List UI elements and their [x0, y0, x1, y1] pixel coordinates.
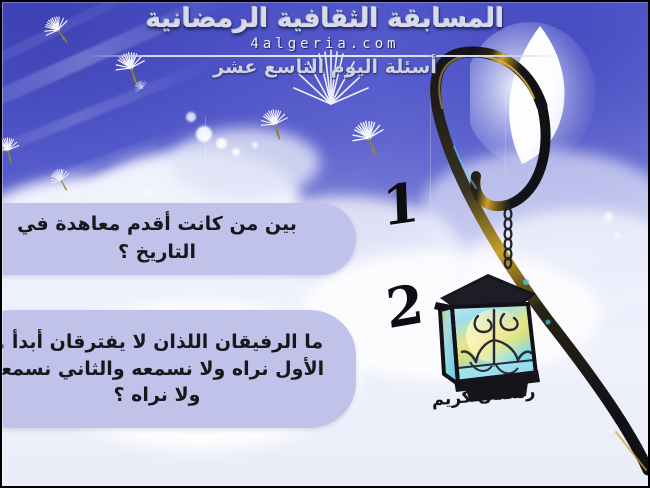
ramadan-lantern: [432, 262, 544, 402]
dandelion-seed: [47, 166, 76, 196]
lantern-chain: [505, 209, 512, 268]
dandelion-seed: [112, 49, 150, 90]
question-1-text: بين من كانت أقدم معاهدة في التاريخ ؟: [0, 211, 330, 266]
question-number-2: 2: [383, 271, 427, 341]
dandelion-seed: [141, 187, 158, 199]
dandelion-seed: [40, 12, 78, 51]
question-number-1: 1: [381, 169, 420, 239]
dandelion-seed: [258, 107, 292, 144]
dandelion-seed: [0, 136, 22, 167]
question-bubble-2: ما الرفيقان اللذان لا يفترقان أبدأ .. ال…: [0, 310, 356, 428]
ramadan-quiz-image: رمضان كريم المسابقة الثقافية الرمضانية 4…: [0, 0, 650, 488]
question-bubble-1: بين من كانت أقدم معاهدة في التاريخ ؟: [0, 203, 356, 275]
question-2-text: ما الرفيقان اللذان لا يفترقان أبدأ .. ال…: [0, 329, 330, 410]
